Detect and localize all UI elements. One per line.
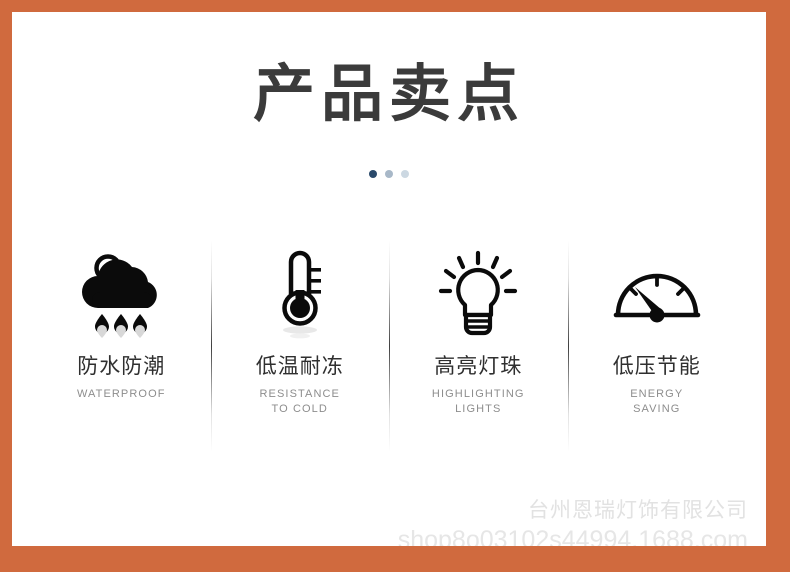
feature-item-waterproof: 防水防潮 WATERPROOF — [32, 240, 211, 452]
feature-item-energy-saving: 低压节能 ENERGY SAVING — [568, 240, 747, 452]
gauge-icon — [613, 240, 701, 348]
watermark-company: 台州恩瑞灯饰有限公司 — [528, 494, 748, 524]
feature-label-en: RESISTANCE TO COLD — [260, 387, 340, 417]
feature-list: 防水防潮 WATERPROOF — [32, 240, 746, 452]
pager-dots — [12, 170, 766, 178]
watermark-url: shop8o03102s44994.1688.com — [398, 526, 748, 546]
dot-3-icon[interactable] — [401, 170, 409, 178]
feature-item-highlighting-lights: 高亮灯珠 HIGHLIGHTING LIGHTS — [389, 240, 568, 452]
feature-label-cn: 防水防潮 — [77, 354, 165, 380]
feature-label-en: ENERGY SAVING — [630, 387, 683, 417]
dot-2-icon[interactable] — [385, 170, 393, 178]
thermometer-icon — [270, 240, 330, 348]
light-bulb-icon — [437, 240, 519, 348]
feature-label-cn: 低温耐冻 — [256, 354, 344, 380]
feature-item-cold-resistance: 低温耐冻 RESISTANCE TO COLD — [211, 240, 390, 452]
banner-canvas: 产品卖点 — [12, 12, 766, 546]
dot-active-icon[interactable] — [369, 170, 377, 178]
feature-label-cn: 低压节能 — [613, 354, 701, 380]
product-selling-points-banner: 产品卖点 — [0, 0, 790, 572]
page-title: 产品卖点 — [12, 60, 766, 130]
feature-label-cn: 高亮灯珠 — [434, 354, 522, 380]
feature-label-en: WATERPROOF — [77, 387, 166, 402]
feature-label-en: HIGHLIGHTING LIGHTS — [432, 387, 525, 417]
rain-cloud-icon — [78, 240, 164, 348]
